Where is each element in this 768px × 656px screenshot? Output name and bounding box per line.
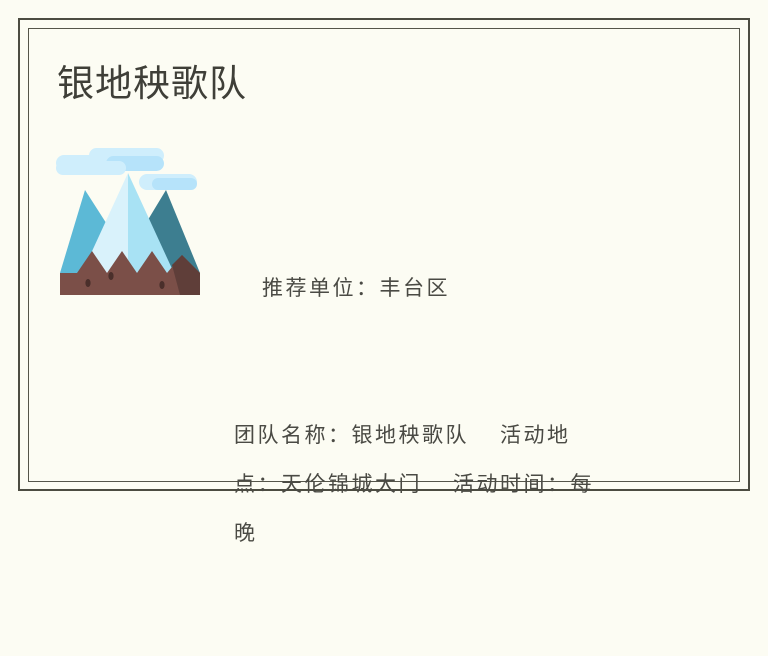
detail-team-info: 团队名称：银地秧歌队 活动地点：天伦锦城大门 活动时间：每晚 (234, 411, 606, 558)
page-root: 银地秧歌队 (0, 0, 768, 510)
rock-dot (85, 279, 90, 287)
mountain-illustration (54, 147, 206, 297)
rock-dot (159, 281, 164, 289)
team-details: 推荐单位：丰台区 团队名称：银地秧歌队 活动地点：天伦锦城大门 活动时间：每晚 (234, 166, 606, 656)
rock-dot (108, 272, 113, 280)
page-title: 银地秧歌队 (57, 60, 247, 108)
detail-recommending-unit: 推荐单位：丰台区 (234, 264, 606, 313)
